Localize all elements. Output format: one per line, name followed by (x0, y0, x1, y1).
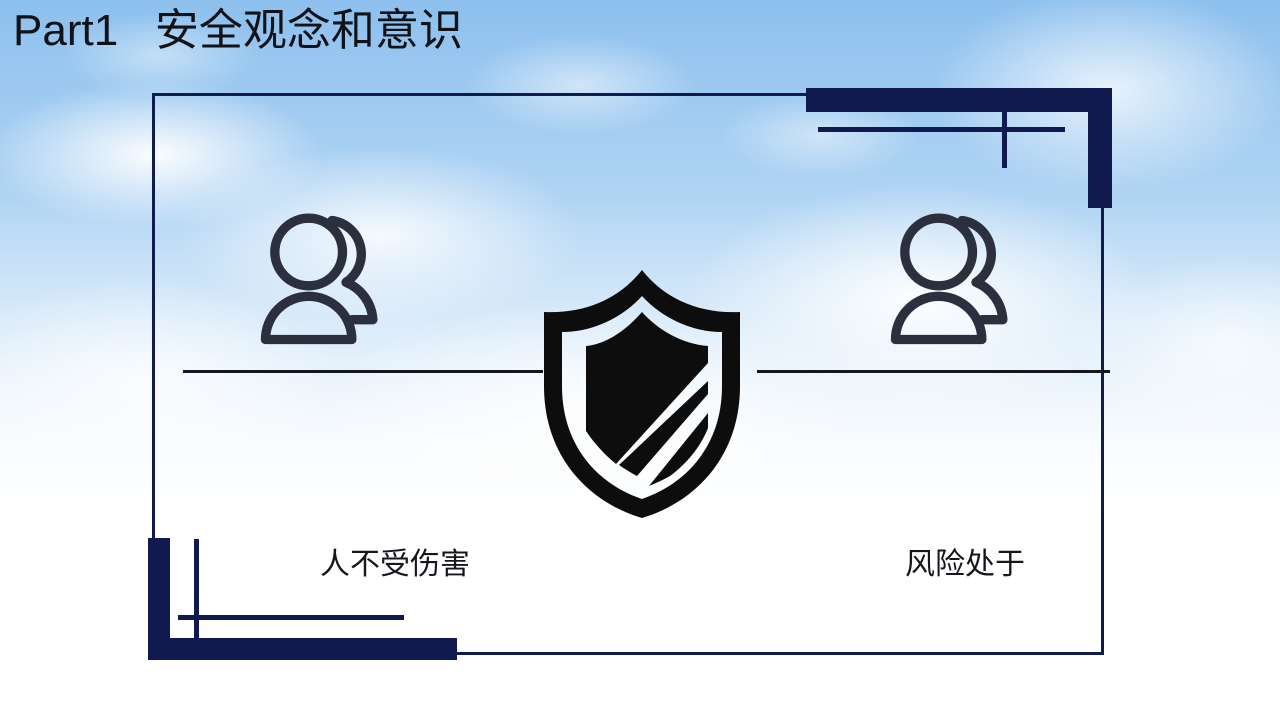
shield-icon (528, 268, 756, 520)
bracket-thin-vertical-line (1002, 112, 1007, 168)
bracket-thin-vertical-line (194, 539, 199, 638)
bracket-thick-vertical-bar (1088, 88, 1112, 208)
people-icon (255, 205, 395, 355)
divider-line-right (757, 370, 1110, 373)
page-title: Part1 安全观念和意识 (13, 3, 463, 59)
bracket-thin-horizontal-line (818, 127, 1065, 132)
slide-canvas: Part1 安全观念和意识 (0, 0, 1280, 720)
caption-right-line1: 风险处于 (775, 534, 1155, 596)
column-right (770, 205, 1140, 355)
bracket-thick-horizontal-bar (806, 88, 1112, 112)
caption-right: 风险处于 可接受水平 (775, 410, 1155, 720)
caption-left-line1: 人不受伤害 (205, 534, 585, 596)
divider-line-left (183, 370, 543, 373)
column-left (140, 205, 510, 355)
corner-bracket-top-right (806, 88, 1112, 208)
people-icon (885, 205, 1025, 355)
